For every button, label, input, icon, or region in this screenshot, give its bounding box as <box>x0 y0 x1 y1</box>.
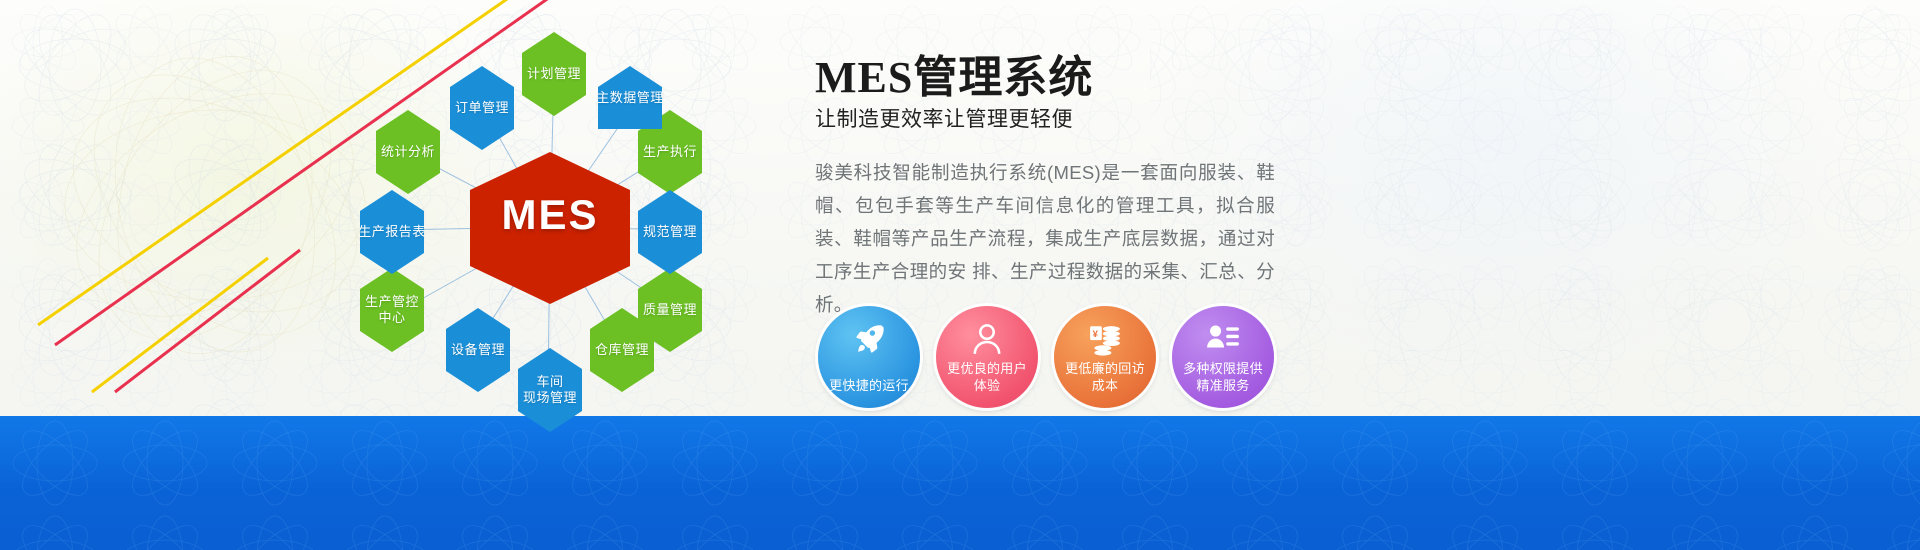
description-paragraph: 骏美科技智能制造执行系统(MES)是一套面向服装、鞋帽、包包手套等生产车间信息化… <box>815 156 1275 321</box>
hexagon-center-mes <box>470 152 630 304</box>
hexagon-shapes <box>360 32 702 432</box>
badge-label: 更快捷的运行 <box>829 377 909 394</box>
svg-text:¥: ¥ <box>1093 329 1099 340</box>
badge-label: 更优良的用户 体验 <box>947 360 1027 394</box>
copy-block: MES管理系统 让制造更效率让管理更轻便 骏美科技智能制造执行系统(MES)是一… <box>815 55 1515 321</box>
mes-hexagon-diagram: MES 计划管理 订单管理 主数据管理 生产执行 统计分析 规范管理 生产报告表… <box>330 12 770 432</box>
user-list-icon <box>1206 322 1240 356</box>
page-subtitle: 让制造更效率让管理更轻便 <box>815 107 1515 132</box>
badge-better-user-experience[interactable]: 更优良的用户 体验 <box>936 306 1038 408</box>
user-icon <box>970 322 1004 356</box>
badge-label: 更低廉的回访 成本 <box>1065 360 1145 394</box>
badge-multi-permission-service[interactable]: 多种权限提供 精准服务 <box>1172 306 1274 408</box>
money-coins-icon: ¥ <box>1088 322 1122 356</box>
rocket-icon <box>852 322 886 356</box>
page-title: MES管理系统 <box>815 55 1515 101</box>
badge-faster-operation[interactable]: 更快捷的运行 <box>818 306 920 408</box>
feature-badges: 更快捷的运行 更优良的用户 体验 ¥ <box>818 306 1274 408</box>
badge-lower-revisit-cost[interactable]: ¥ 更低廉的回访 成本 <box>1054 306 1156 408</box>
mes-banner: MES 计划管理 订单管理 主数据管理 生产执行 统计分析 规范管理 生产报告表… <box>0 0 1920 550</box>
badge-label: 多种权限提供 精准服务 <box>1183 360 1263 394</box>
blue-band-texture-icon <box>0 416 1920 550</box>
